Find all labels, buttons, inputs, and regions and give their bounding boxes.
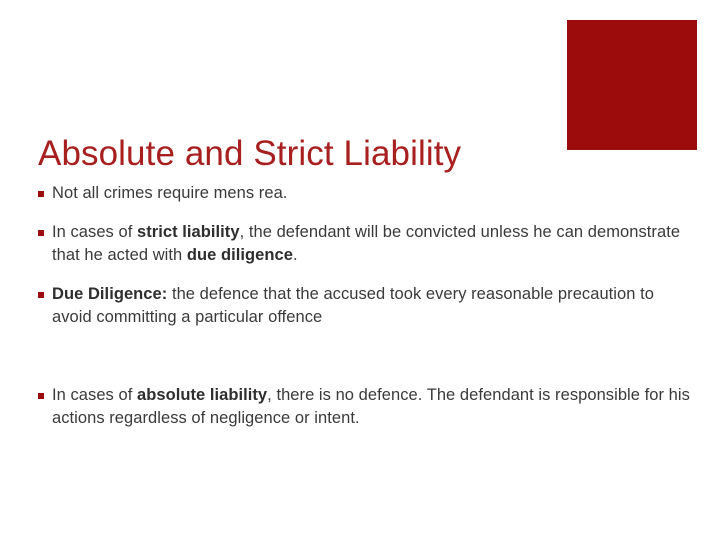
square-bullet-icon [38,393,44,399]
bullet-item: Due Diligence: the defence that the accu… [36,283,696,329]
bullet-emphasis: strict liability [137,223,240,241]
slide-title: Absolute and Strict Liability [38,131,558,177]
bullet-item: Not all crimes require mens rea. [36,182,696,205]
square-bullet-icon [38,230,44,236]
bullet-emphasis: Due Diligence: [52,285,167,303]
bullet-text: Not all crimes require mens rea. [52,184,287,202]
red-square-decoration [567,20,697,150]
bullet-run: In cases of [52,223,137,241]
bullet-emphasis: due diligence [187,246,293,264]
square-bullet-icon [38,292,44,298]
bullet-text: In cases of strict liability, the defend… [52,223,680,264]
bullet-spacer [36,345,696,368]
bullet-emphasis: absolute liability [137,386,267,404]
bullet-run: In cases of [52,386,137,404]
slide-canvas: Absolute and Strict Liability Not all cr… [0,0,720,540]
bullet-text: Due Diligence: the defence that the accu… [52,285,654,326]
bullet-item: In cases of absolute liability, there is… [36,384,696,430]
bullet-list: Not all crimes require mens rea.In cases… [36,182,696,430]
square-bullet-icon [38,191,44,197]
bullet-item: In cases of strict liability, the defend… [36,221,696,267]
bullet-run: . [293,246,298,264]
bullet-text: In cases of absolute liability, there is… [52,386,690,427]
bullet-run: Not all crimes require mens rea. [52,184,287,202]
